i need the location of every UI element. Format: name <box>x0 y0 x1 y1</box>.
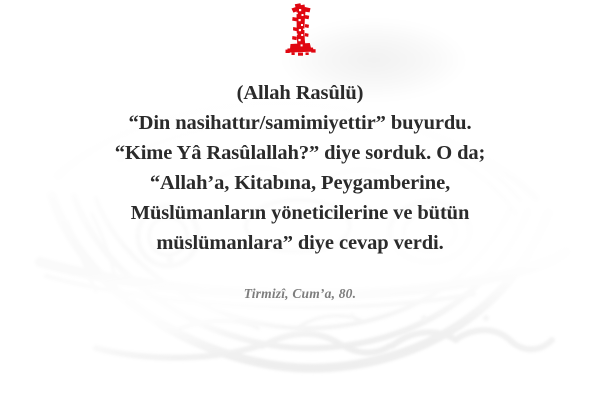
quote-line-5: Müslümanların yöneticilerine ve bütün <box>0 198 600 228</box>
quote-line-2: “Din nasihattır/samimiyettir” buyurdu. <box>0 108 600 138</box>
quote-line-1: (Allah Rasûlü) <box>0 78 600 108</box>
quote-line-3: “Kime Yâ Rasûlallah?” diye sorduk. O da; <box>0 138 600 168</box>
source-attribution: Tirmizî, Cum’a, 80. <box>0 286 600 302</box>
card-content: (Allah Rasûlü) “Din nasihattır/samimiyet… <box>0 0 600 400</box>
hadith-quote-card: (Allah Rasûlü) “Din nasihattır/samimiyet… <box>0 0 600 400</box>
red-arabic-alif-calligraphy-icon <box>278 2 322 56</box>
quote-line-4: “Allah’a, Kitabına, Peygamberine, <box>0 168 600 198</box>
hadith-text: (Allah Rasûlü) “Din nasihattır/samimiyet… <box>0 78 600 258</box>
seal-container <box>0 2 600 60</box>
quote-line-6: müslümanlara” diye cevap verdi. <box>0 228 600 258</box>
